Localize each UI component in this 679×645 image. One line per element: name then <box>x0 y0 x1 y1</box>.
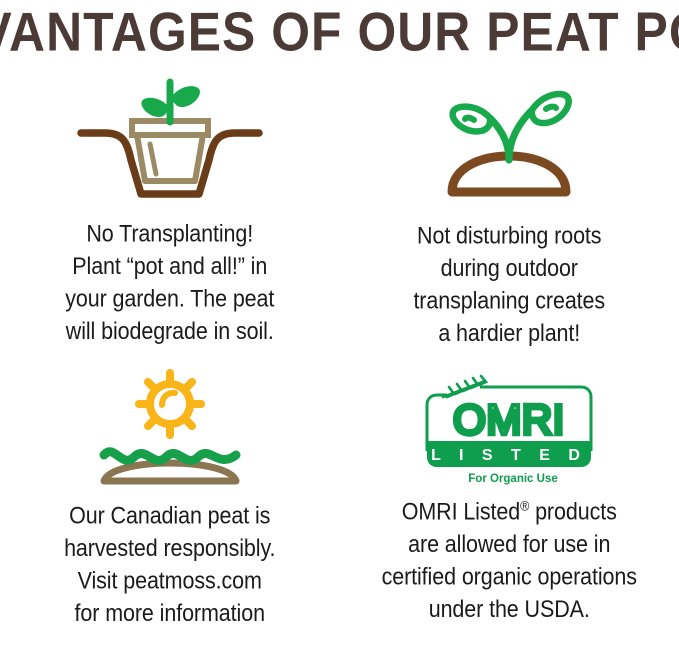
listed-text: L I S T E D <box>431 447 587 464</box>
caption-line: Not disturbing roots <box>413 220 605 252</box>
caption-line: a hardier plant! <box>413 317 605 349</box>
caption-line: during outdoor <box>413 252 605 284</box>
advantage-caption-1: No Transplanting! Plant “pot and all!” i… <box>65 218 274 348</box>
advantage-caption-4: OMRI Listed® products are allowed for us… <box>382 496 637 626</box>
caption-line: your garden. The peat <box>65 283 274 315</box>
caption-line: for more information <box>64 597 275 629</box>
advantage-icon-container-3 <box>90 368 250 490</box>
advantages-grid: No Transplanting! Plant “pot and all!” i… <box>0 72 679 645</box>
omri-listed-logo: OMRI L I S T E D For Organic Use <box>423 373 595 485</box>
advantage-item-1: No Transplanting! Plant “pot and all!” i… <box>0 72 340 368</box>
sprig-icon <box>443 376 486 397</box>
advantages-infographic: ADVANTAGES OF OUR PEAT POTS <box>0 0 679 645</box>
page-title: ADVANTAGES OF OUR PEAT POTS <box>0 3 679 61</box>
caption-line: are allowed for use in <box>382 528 637 560</box>
caption-line: Our Canadian peat is <box>64 500 275 532</box>
caption-line: Visit peatmoss.com <box>64 565 275 597</box>
caption-line: Plant “pot and all!” in <box>65 250 274 282</box>
advantage-caption-3: Our Canadian peat is harvested responsib… <box>64 500 275 630</box>
registered-mark: ® <box>520 498 529 514</box>
caption-line: under the USDA. <box>382 593 637 625</box>
omri-tagline: For Organic Use <box>469 473 558 485</box>
advantage-icon-container-2 <box>434 72 584 204</box>
omri-wordmark: OMRI <box>453 396 565 443</box>
advantage-icon-container-4: OMRI L I S T E D For Organic Use <box>423 368 595 490</box>
advantage-item-3: Our Canadian peat is harvested responsib… <box>0 368 340 645</box>
advantage-caption-2: Not disturbing roots during outdoor tran… <box>413 220 605 350</box>
caption-line: transplaning creates <box>413 285 605 317</box>
page-title-container: ADVANTAGES OF OUR PEAT POTS <box>0 2 679 62</box>
sun-over-field-icon <box>90 371 250 487</box>
advantage-item-4: OMRI L I S T E D For Organic Use OMRI Li… <box>340 368 679 645</box>
peat-pot-in-soil-icon <box>75 76 265 200</box>
caption-line: harvested responsibly. <box>64 532 275 564</box>
sprout-in-soil-mound-icon <box>434 76 584 200</box>
caption-line: OMRI Listed® products <box>382 496 637 528</box>
advantage-item-2: Not disturbing roots during outdoor tran… <box>340 72 679 368</box>
sun-icon <box>139 373 201 435</box>
caption-line: will biodegrade in soil. <box>65 315 274 347</box>
caption-line: No Transplanting! <box>65 218 274 250</box>
caption-line: certified organic operations <box>382 561 637 593</box>
advantage-icon-container-1 <box>75 72 265 204</box>
